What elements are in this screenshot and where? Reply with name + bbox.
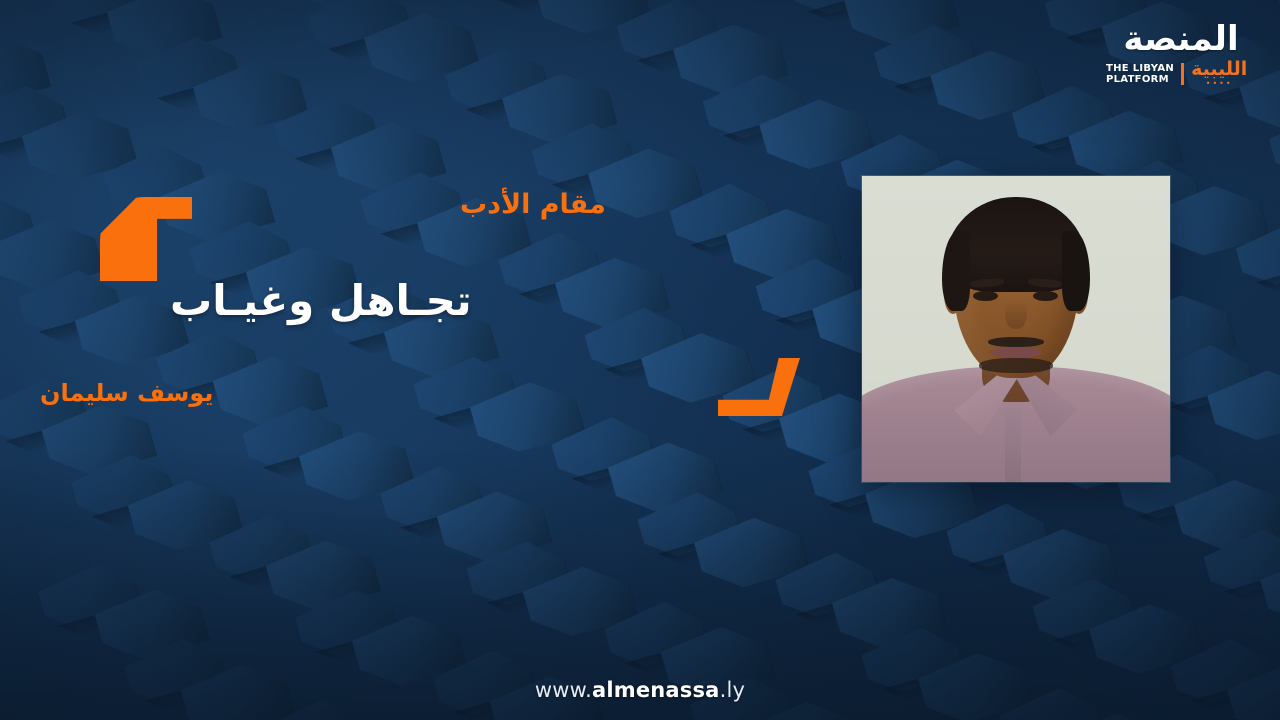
logo-dots-icon: •••• bbox=[1191, 80, 1247, 88]
portrait-shirt-placket bbox=[1005, 409, 1020, 482]
section-kicker: مقام الأدب bbox=[460, 190, 800, 220]
portrait-image bbox=[862, 176, 1170, 482]
portrait-nose bbox=[1005, 301, 1027, 329]
logo-en-line1: THE LIBYAN bbox=[1106, 63, 1174, 75]
author-name: يوسف سليمان bbox=[40, 380, 300, 406]
portrait-hair-left bbox=[942, 231, 970, 311]
headline: تجـاهل وغيـاب bbox=[170, 276, 590, 326]
portrait-hair-right bbox=[1062, 231, 1090, 311]
logo-wordmark-arabic: المنصة bbox=[1106, 22, 1256, 56]
logo-secondary-row: الليبية •••• THE LIBYAN PLATFORM bbox=[1106, 60, 1256, 88]
author-photo bbox=[862, 176, 1170, 482]
url-name: almenassa bbox=[592, 678, 720, 702]
logo-sub-arabic: الليبية bbox=[1191, 58, 1247, 80]
portrait-moustache bbox=[988, 337, 1043, 347]
logo-divider-bar-icon bbox=[1181, 63, 1184, 85]
logo-wordmark-english: THE LIBYAN PLATFORM bbox=[1106, 63, 1174, 86]
website-url[interactable]: www.almenassa.ly bbox=[0, 678, 1280, 702]
brand-logo[interactable]: المنصة الليبية •••• THE LIBYAN PLATFORM bbox=[1106, 22, 1256, 88]
logo-sub-arabic-group: الليبية •••• bbox=[1191, 60, 1247, 88]
url-prefix: www. bbox=[535, 678, 592, 702]
logo-en-line2: PLATFORM bbox=[1106, 74, 1174, 86]
social-card: المنصة الليبية •••• THE LIBYAN PLATFORM … bbox=[0, 0, 1280, 720]
url-suffix: .ly bbox=[720, 678, 746, 702]
portrait-chin-beard bbox=[979, 358, 1053, 373]
